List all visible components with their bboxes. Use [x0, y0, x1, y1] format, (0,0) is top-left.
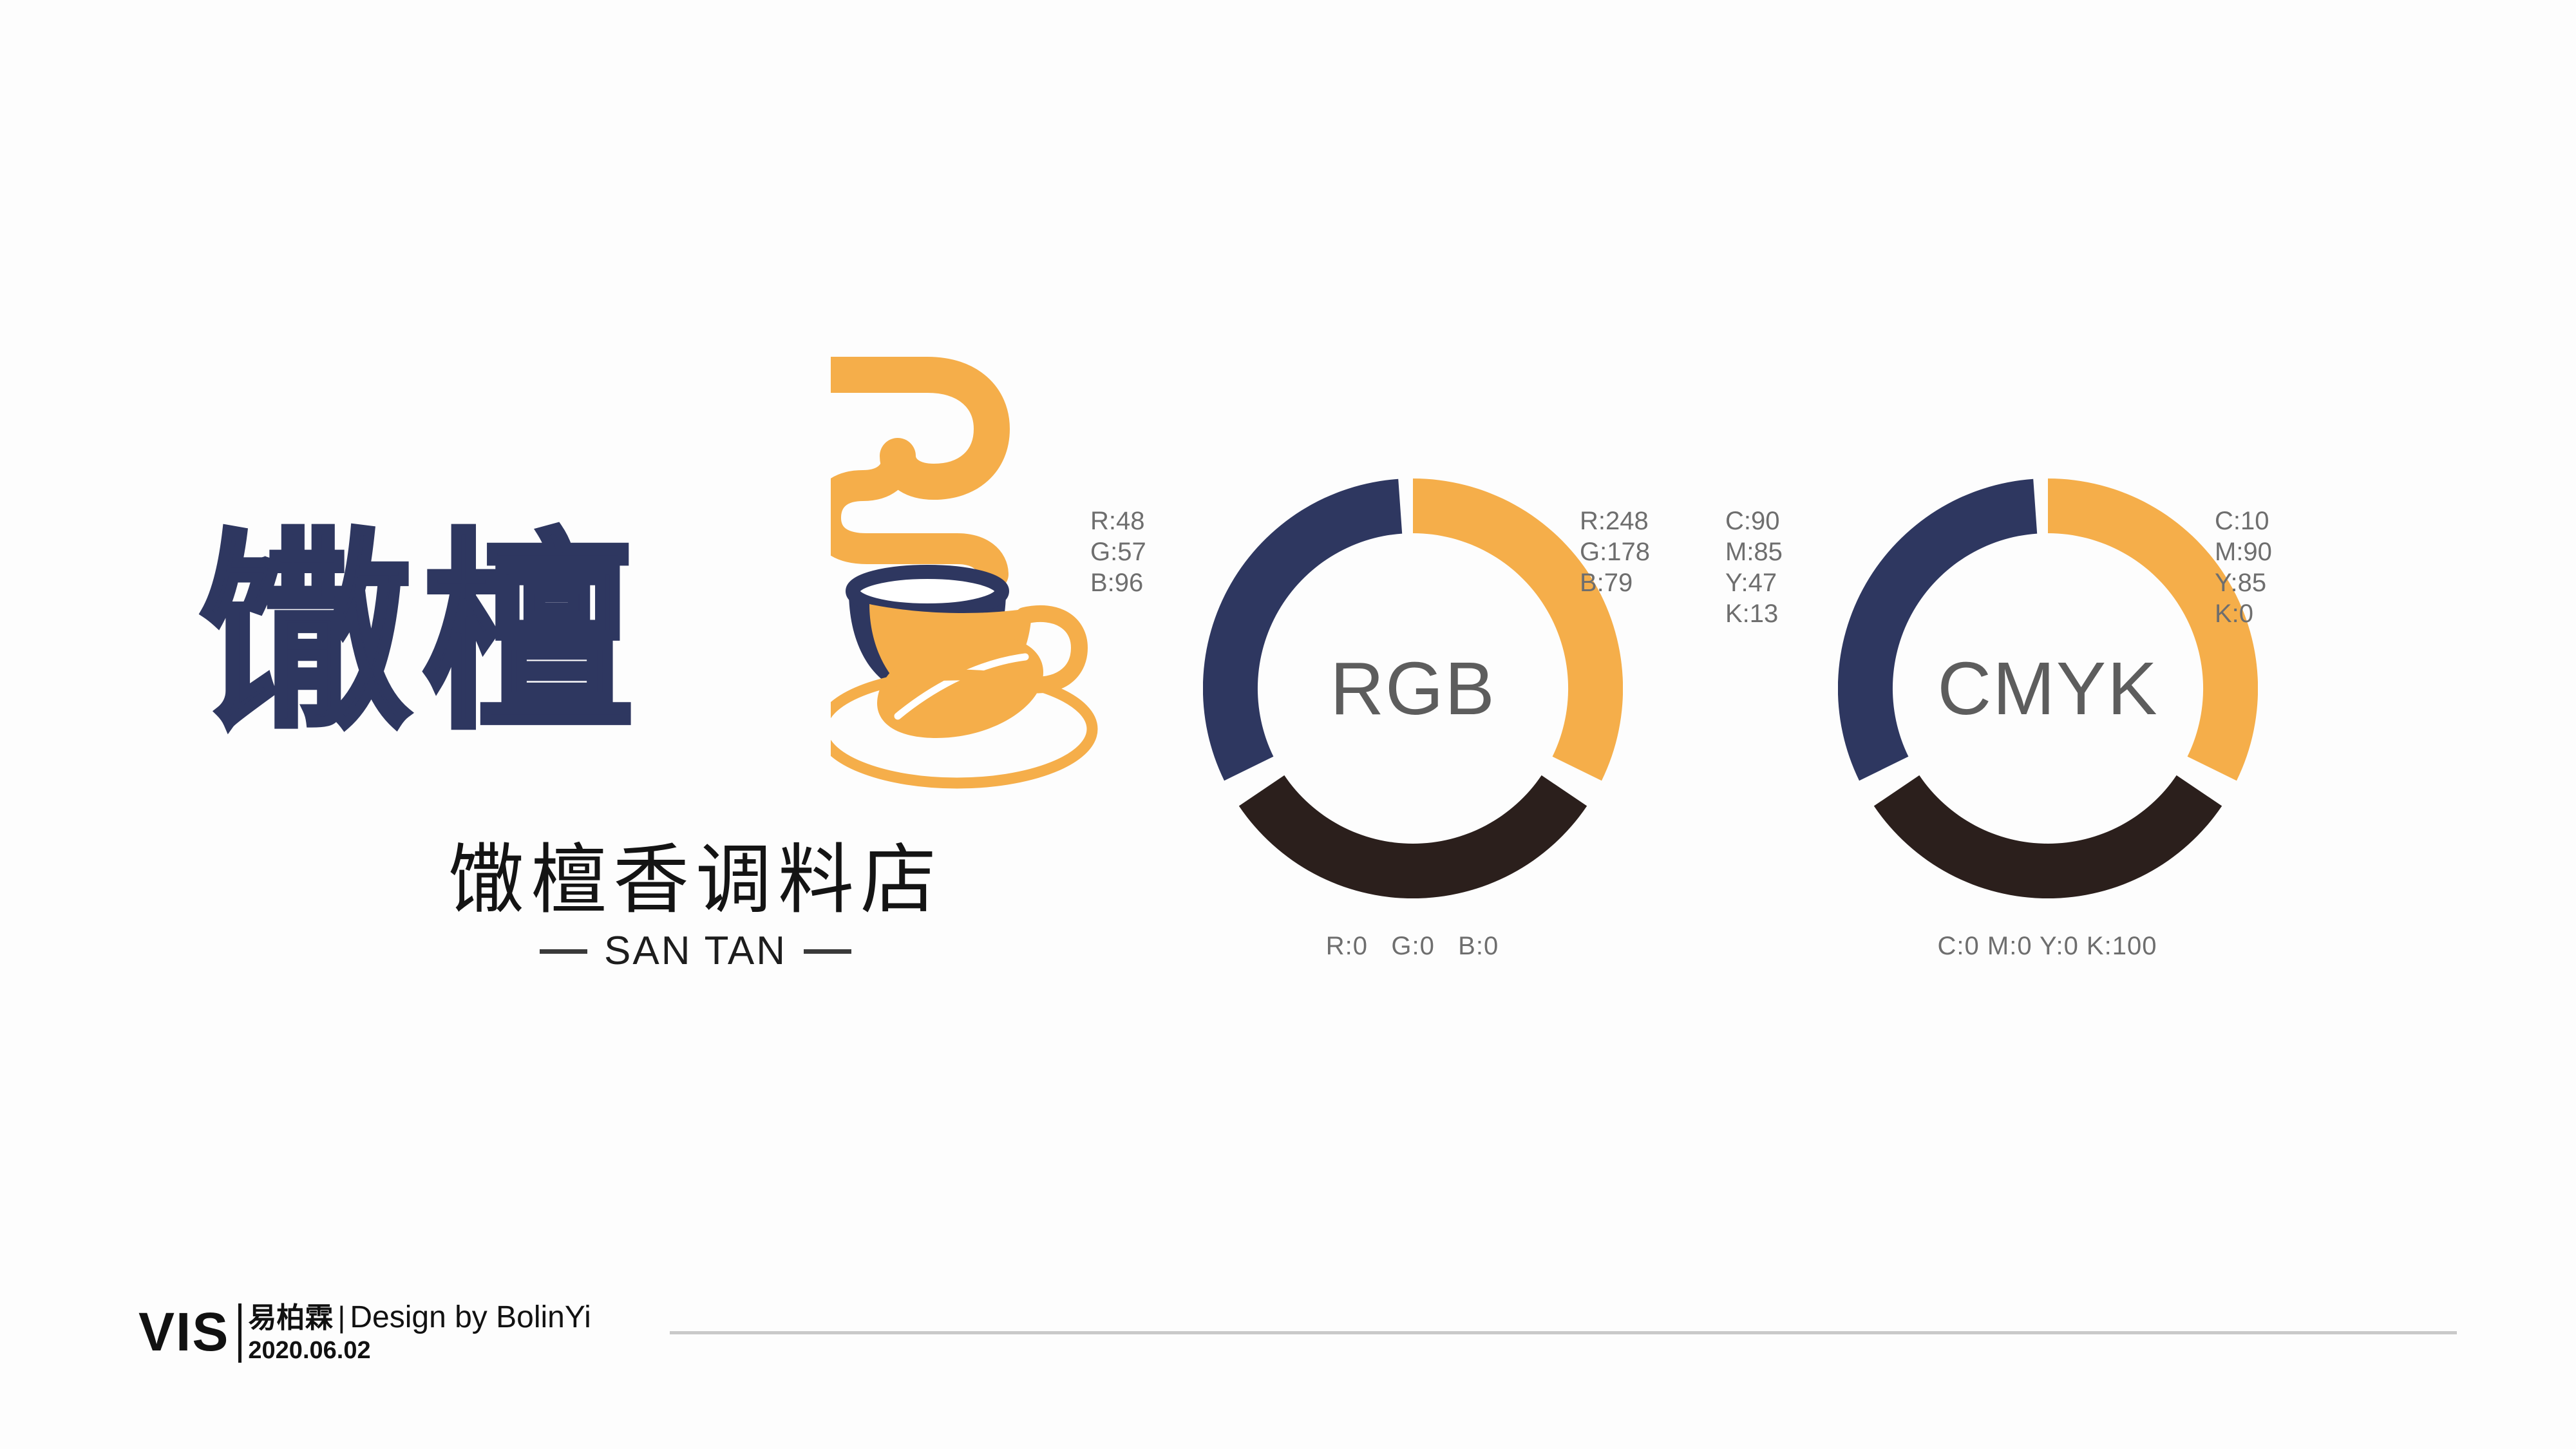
- rgb-color-donut-chart: RGB R:48 G:57 B:96 R:248 G:178 B:79 R:0 …: [1090, 460, 1734, 1040]
- logo-tagline-english: SAN TAN: [604, 931, 787, 971]
- footer-divider-bar: [238, 1303, 241, 1363]
- cmyk-center-label: CMYK: [1838, 478, 2258, 898]
- logo-tagline-chinese: 馓檀香调料店: [187, 837, 1101, 922]
- footer-credit-block: VIS 易柏霖 | Design by BolinYi 2020.06.02: [138, 1301, 591, 1365]
- cmyk-navy-values: C:90 M:85 Y:47 K:13: [1725, 506, 1783, 629]
- tagline-rule-left: [540, 949, 587, 954]
- footer-horizontal-rule: [670, 1331, 2457, 1334]
- cmyk-orange-values: C:10 M:90 Y:85 K:0: [2215, 506, 2369, 629]
- rgb-navy-values: R:48 G:57 B:96: [1090, 506, 1146, 598]
- rgb-orange-values: R:248 G:178 B:79: [1580, 506, 1734, 598]
- footer-author-line: 易柏霖 | Design by BolinYi: [248, 1301, 591, 1334]
- footer-text-column: 易柏霖 | Design by BolinYi 2020.06.02: [248, 1301, 591, 1365]
- cmyk-color-donut-chart: CMYK C:90 M:85 Y:47 K:13 C:10 M:90 Y:85 …: [1725, 460, 2369, 1040]
- tagline-rule-right: [804, 949, 851, 954]
- footer-divider-pipe: |: [337, 1301, 345, 1333]
- footer-author-chinese: 易柏霖: [248, 1302, 333, 1334]
- logo-wordmark-chinese: 馓檀: [200, 528, 643, 741]
- footer-date: 2020.06.02: [248, 1336, 591, 1365]
- logo-tagline-block: 馓檀香调料店 SAN TAN: [187, 837, 1101, 971]
- steaming-coffee-cup-with-leaf-icon: [831, 348, 1101, 824]
- logo-tagline-english-row: SAN TAN: [187, 931, 1101, 971]
- footer-vis-label: VIS: [138, 1301, 229, 1359]
- logo-lockup: 馓檀: [187, 348, 1101, 1030]
- cmyk-black-values: C:0 M:0 Y:0 K:100: [1725, 931, 2369, 961]
- page-footer: VIS 易柏霖 | Design by BolinYi 2020.06.02: [0, 1301, 2576, 1404]
- rgb-black-values: R:0 G:0 B:0: [1090, 931, 1734, 961]
- rgb-center-label: RGB: [1203, 478, 1623, 898]
- logo-mark-row: 馓檀: [187, 348, 1101, 837]
- footer-designer-credit: Design by BolinYi: [350, 1301, 591, 1334]
